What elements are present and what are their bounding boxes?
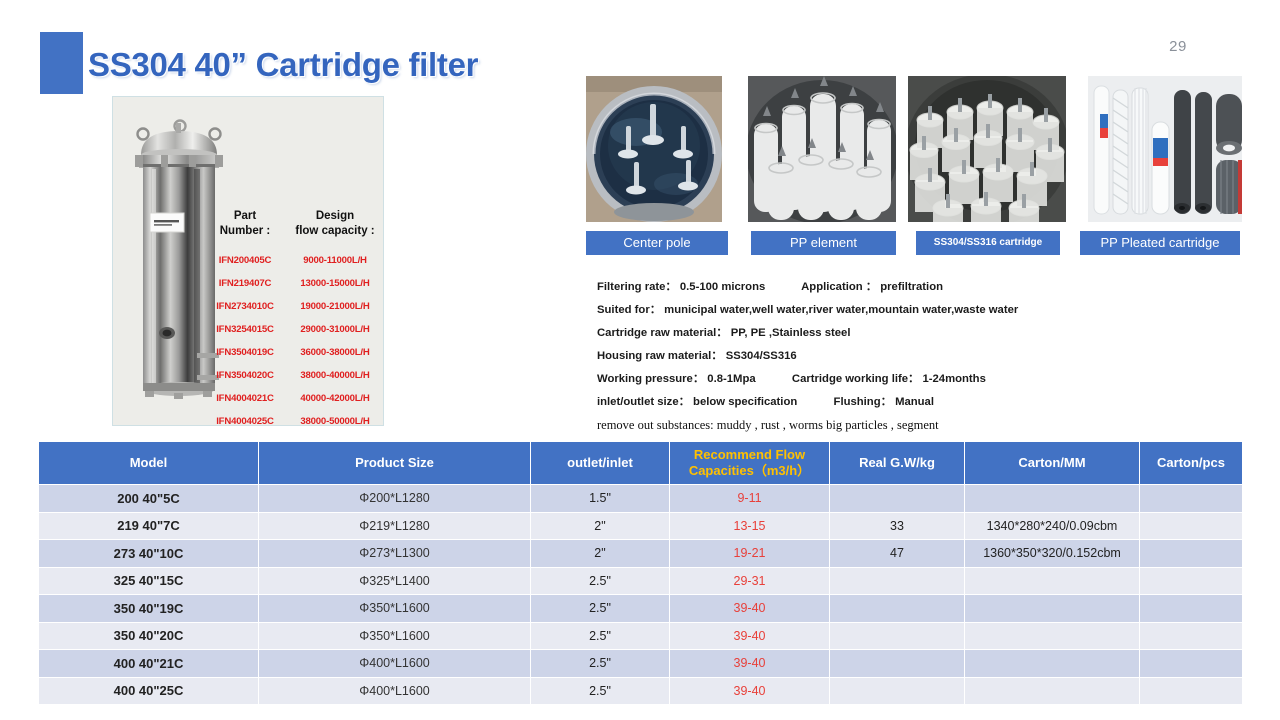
cell-carton: 1340*280*240/0.09cbm: [965, 512, 1140, 540]
spec-cartridge-raw-material: Cartridge raw material： PP, PE ,Stainles…: [597, 322, 1067, 345]
page-number: 29: [1158, 38, 1198, 55]
table-header-row: Model Product Size outlet/inlet Recommen…: [39, 442, 1243, 485]
cell-size: Φ350*L1600: [259, 595, 531, 623]
spec-filtering-rate: Filtering rate： 0.5-100 microns Applicat…: [597, 276, 1067, 299]
cell-gw: [830, 677, 965, 705]
design-flow-value: 13000-15000L/H: [283, 272, 387, 295]
cell-outlet: 2.5": [531, 622, 670, 650]
spec-value: muddy , rust , worms big particles , seg…: [717, 418, 939, 432]
design-flow-value: 38000-50000L/H: [283, 410, 387, 433]
column-header-carton-mm: Carton/MM: [965, 442, 1140, 485]
cell-flow: 39-40: [670, 622, 830, 650]
cell-outlet: 1.5": [531, 485, 670, 513]
cell-pcs: [1140, 622, 1243, 650]
part-number-table: Part Number : Design flow capacity : IFN…: [207, 209, 387, 433]
photo-caption-pp-element[interactable]: PP element: [751, 231, 896, 255]
cell-carton: 1360*350*320/0.152cbm: [965, 540, 1140, 568]
part-number-row: IFN3504019C 36000-38000L/H: [207, 341, 387, 364]
spec-value-2: 1-24months: [922, 373, 985, 385]
cell-size: Φ200*L1280: [259, 485, 531, 513]
spec-value-2: prefiltration: [880, 281, 943, 293]
title-accent-bar: [40, 32, 83, 94]
ss-cartridge-photo: [908, 76, 1066, 222]
pp-element-photo: [748, 76, 896, 222]
spec-label: Working pressure：: [597, 373, 704, 385]
cell-model: 219 40"7C: [39, 512, 259, 540]
cell-flow: 29-31: [670, 567, 830, 595]
specification-table: Model Product Size outlet/inlet Recommen…: [38, 441, 1243, 705]
part-number-row: IFN3254015C 29000-31000L/H: [207, 318, 387, 341]
column-header-carton-pcs: Carton/pcs: [1140, 442, 1243, 485]
flow-header-line1: Recommend Flow: [670, 447, 829, 463]
cell-pcs: [1140, 512, 1243, 540]
cell-carton: [965, 650, 1140, 678]
product-image-panel: Part Number : Design flow capacity : IFN…: [112, 96, 384, 426]
cell-flow: 13-15: [670, 512, 830, 540]
cell-outlet: 2": [531, 540, 670, 568]
cell-carton: [965, 485, 1140, 513]
photo-caption-ss-cartridge[interactable]: SS304/SS316 cartridge: [916, 231, 1060, 255]
cell-pcs: [1140, 595, 1243, 623]
spec-value: below specification: [693, 396, 797, 408]
photo-caption-pp-pleated[interactable]: PP Pleated cartridge: [1080, 231, 1240, 255]
part-number-row: IFN4004025C 38000-50000L/H: [207, 410, 387, 433]
part-number-value: IFN3504019C: [207, 341, 283, 364]
cell-size: Φ325*L1400: [259, 567, 531, 595]
part-number-header-line2: Number :: [207, 224, 283, 239]
cell-pcs: [1140, 677, 1243, 705]
spec-label: remove out substances:: [597, 418, 714, 432]
table-row: 200 40"5C Φ200*L1280 1.5" 9-11: [39, 485, 1243, 513]
design-flow-value: 40000-42000L/H: [283, 387, 387, 410]
cell-outlet: 2": [531, 512, 670, 540]
cell-flow: 39-40: [670, 650, 830, 678]
column-header-outlet-inlet: outlet/inlet: [531, 442, 670, 485]
spec-value: 0.5-100 microns: [680, 281, 765, 293]
cell-outlet: 2.5": [531, 650, 670, 678]
spec-label: Suited for：: [597, 304, 661, 316]
spec-remove-out-substances: remove out substances: muddy , rust , wo…: [597, 414, 1067, 437]
spec-label: inlet/outlet size：: [597, 396, 690, 408]
table-row: 219 40"7C Φ219*L1280 2" 13-15 33 1340*28…: [39, 512, 1243, 540]
cell-gw: [830, 622, 965, 650]
photo-caption-center-pole[interactable]: Center pole: [586, 231, 728, 255]
cell-carton: [965, 595, 1140, 623]
specification-list: Filtering rate： 0.5-100 microns Applicat…: [597, 276, 1067, 437]
design-flow-value: 38000-40000L/H: [283, 364, 387, 387]
cell-outlet: 2.5": [531, 677, 670, 705]
cell-carton: [965, 567, 1140, 595]
table-row: 400 40"25C Φ400*L1600 2.5" 39-40: [39, 677, 1243, 705]
part-number-row: IFN3504020C 38000-40000L/H: [207, 364, 387, 387]
design-flow-value: 19000-21000L/H: [283, 295, 387, 318]
column-header-real-gw: Real G.W/kg: [830, 442, 965, 485]
cell-flow: 9-11: [670, 485, 830, 513]
column-header-product-size: Product Size: [259, 442, 531, 485]
cell-size: Φ400*L1600: [259, 677, 531, 705]
cell-gw: [830, 485, 965, 513]
cell-flow: 39-40: [670, 595, 830, 623]
cell-model: 400 40"25C: [39, 677, 259, 705]
spec-value: 0.8-1Mpa: [707, 373, 755, 385]
spec-label-2: Cartridge working life：: [792, 373, 919, 385]
part-number-row: IFN200405C 9000-11000L/H: [207, 249, 387, 272]
spec-value: SS304/SS316: [726, 350, 797, 362]
part-number-row: IFN2734010C 19000-21000L/H: [207, 295, 387, 318]
cell-flow: 19-21: [670, 540, 830, 568]
cell-pcs: [1140, 650, 1243, 678]
cell-carton: [965, 622, 1140, 650]
part-number-row: IFN219407C 13000-15000L/H: [207, 272, 387, 295]
table-row: 325 40"15C Φ325*L1400 2.5" 29-31: [39, 567, 1243, 595]
cell-model: 350 40"19C: [39, 595, 259, 623]
cell-gw: [830, 595, 965, 623]
spec-label: Filtering rate：: [597, 281, 677, 293]
table-row: 350 40"19C Φ350*L1600 2.5" 39-40: [39, 595, 1243, 623]
spec-housing-raw-material: Housing raw material： SS304/SS316: [597, 345, 1067, 368]
spec-label: Cartridge raw material：: [597, 327, 728, 339]
pp-pleated-cartridge-photo: [1088, 76, 1242, 222]
table-body: 200 40"5C Φ200*L1280 1.5" 9-11 219 40"7C…: [39, 485, 1243, 705]
cell-gw: 47: [830, 540, 965, 568]
cell-pcs: [1140, 485, 1243, 513]
cell-size: Φ400*L1600: [259, 650, 531, 678]
table-row: 400 40"21C Φ400*L1600 2.5" 39-40: [39, 650, 1243, 678]
column-header-recommend-flow-capacities: Recommend Flow Capacities（m3/h）: [670, 442, 830, 485]
page-title: SS304 40” Cartridge filter: [88, 46, 478, 84]
cell-model: 200 40"5C: [39, 485, 259, 513]
cell-model: 400 40"21C: [39, 650, 259, 678]
spec-value: municipal water,well water,river water,m…: [664, 304, 1018, 316]
spec-suited-for: Suited for： municipal water,well water,r…: [597, 299, 1067, 322]
part-number-value: IFN200405C: [207, 249, 283, 272]
cell-model: 325 40"15C: [39, 567, 259, 595]
cell-gw: [830, 567, 965, 595]
part-number-row: IFN4004021C 40000-42000L/H: [207, 387, 387, 410]
cell-outlet: 2.5": [531, 567, 670, 595]
table-row: 273 40"10C Φ273*L1300 2" 19-21 47 1360*3…: [39, 540, 1243, 568]
part-number-value: IFN4004025C: [207, 410, 283, 433]
cell-carton: [965, 677, 1140, 705]
spec-inlet-outlet-size: inlet/outlet size： below specification F…: [597, 391, 1067, 414]
cell-model: 273 40"10C: [39, 540, 259, 568]
design-flow-header-line2: flow capacity :: [283, 224, 387, 239]
cell-outlet: 2.5": [531, 595, 670, 623]
design-flow-value: 9000-11000L/H: [283, 249, 387, 272]
spec-value: PP, PE ,Stainless steel: [731, 327, 851, 339]
cell-flow: 39-40: [670, 677, 830, 705]
part-number-value: IFN4004021C: [207, 387, 283, 410]
part-number-value: IFN3504020C: [207, 364, 283, 387]
flow-header-line2: Capacities（m3/h）: [670, 463, 829, 479]
cell-gw: [830, 650, 965, 678]
cell-gw: 33: [830, 512, 965, 540]
part-number-value: IFN3254015C: [207, 318, 283, 341]
design-flow-value: 29000-31000L/H: [283, 318, 387, 341]
spec-value-2: Manual: [895, 396, 934, 408]
cell-size: Φ273*L1300: [259, 540, 531, 568]
cell-size: Φ350*L1600: [259, 622, 531, 650]
center-pole-photo: [586, 76, 722, 222]
cell-pcs: [1140, 540, 1243, 568]
table-row: 350 40"20C Φ350*L1600 2.5" 39-40: [39, 622, 1243, 650]
spec-label-2: Flushing：: [834, 396, 892, 408]
part-number-value: IFN219407C: [207, 272, 283, 295]
design-flow-header-line1: Design: [283, 209, 387, 224]
spec-label-2: Application ：: [801, 281, 877, 293]
part-number-value: IFN2734010C: [207, 295, 283, 318]
part-number-header-line1: Part: [207, 209, 283, 224]
design-flow-value: 36000-38000L/H: [283, 341, 387, 364]
cell-model: 350 40"20C: [39, 622, 259, 650]
cell-pcs: [1140, 567, 1243, 595]
spec-working-pressure: Working pressure： 0.8-1Mpa Cartridge wor…: [597, 368, 1067, 391]
spec-label: Housing raw material：: [597, 350, 723, 362]
cell-size: Φ219*L1280: [259, 512, 531, 540]
part-number-table-header: Part Number : Design flow capacity :: [207, 209, 387, 239]
column-header-model: Model: [39, 442, 259, 485]
